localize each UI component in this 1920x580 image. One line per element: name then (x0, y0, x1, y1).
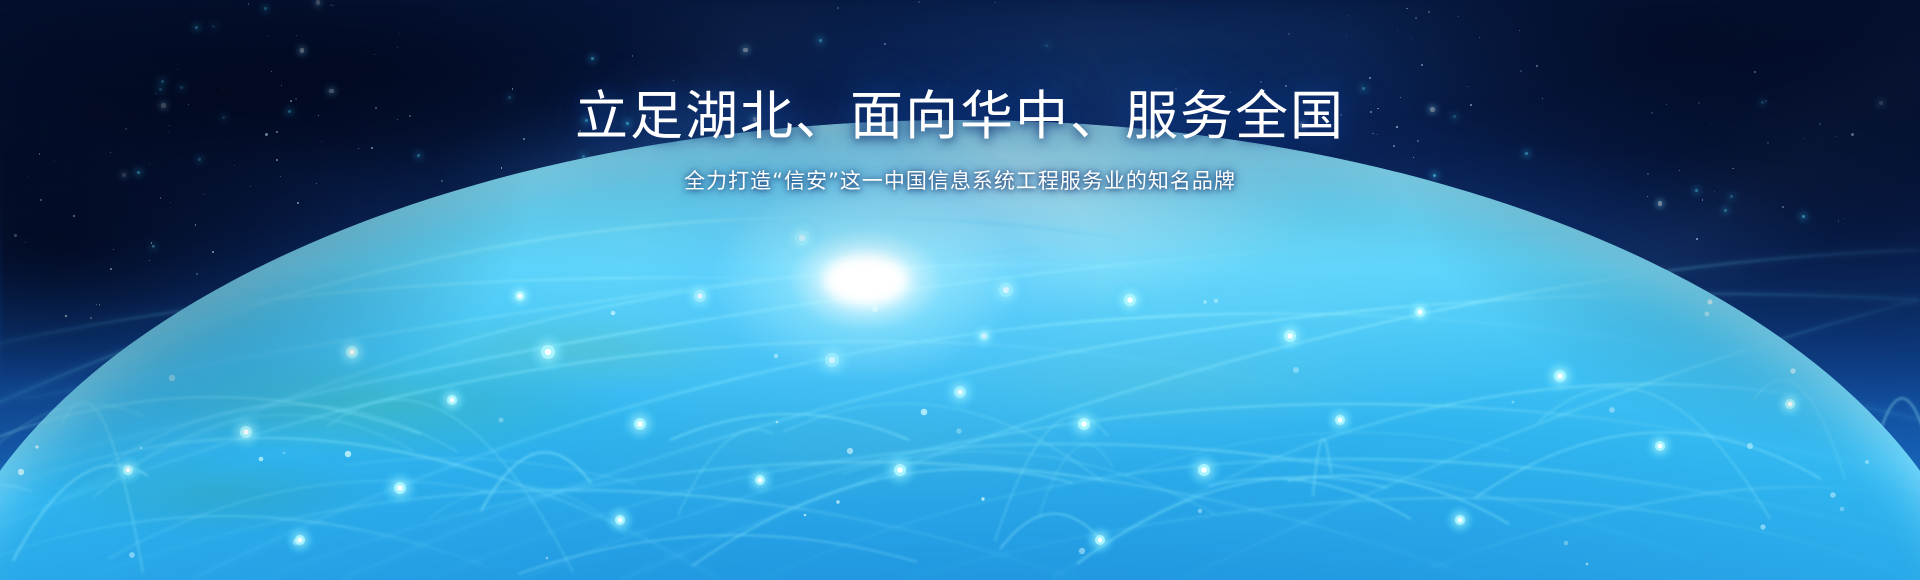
banner-copy: 立足湖北、面向华中、服务全国 全力打造“信安”这一中国信息系统工程服务业的知名品… (0, 86, 1920, 196)
banner-subheadline: 全力打造“信安”这一中国信息系统工程服务业的知名品牌 (0, 167, 1920, 196)
banner-headline: 立足湖北、面向华中、服务全国 (0, 86, 1920, 149)
hero-banner: 立足湖北、面向华中、服务全国 全力打造“信安”这一中国信息系统工程服务业的知名品… (0, 0, 1920, 580)
